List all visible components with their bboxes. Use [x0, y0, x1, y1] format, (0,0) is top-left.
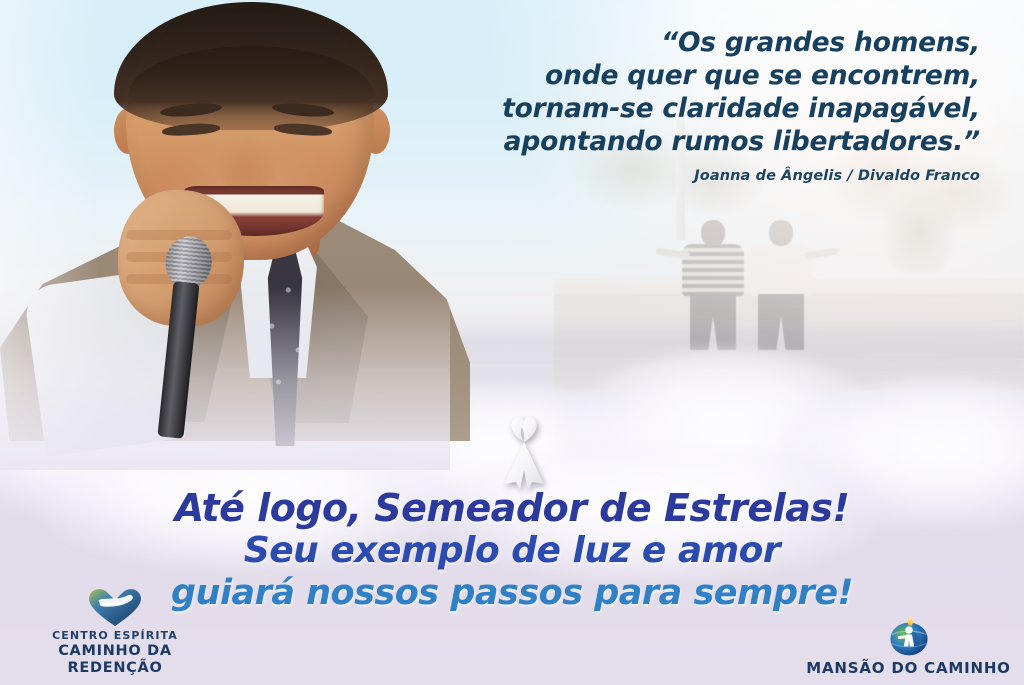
- logo-left-line-2: CAMINHO DA REDENÇÃO: [10, 643, 220, 677]
- poster-canvas: “Os grandes homens, onde quer que se enc…: [0, 0, 1024, 685]
- white-mourning-ribbon-icon: [484, 412, 564, 492]
- logo-left-line-1: CENTRO ESPÍRITA: [10, 629, 220, 643]
- logo-centro-espirita: CENTRO ESPÍRITA CAMINHO DA REDENÇÃO: [10, 589, 220, 677]
- quote-attribution: Joanna de Ângelis / Divaldo Franco: [420, 168, 980, 184]
- microphone-body: [157, 281, 199, 439]
- portrait-divaldo-franco: [10, 0, 440, 430]
- hair: [114, 2, 388, 130]
- headline-line-2: Seu exemplo de luz e amor: [0, 530, 1024, 572]
- nose: [216, 136, 278, 192]
- logo-mansao-do-caminho: MANSÃO DO CAMINHO: [801, 617, 1016, 677]
- globe-figure-flame-logo-icon: [801, 617, 1016, 657]
- headline-line-1: Até logo, Semeador de Estrelas!: [0, 486, 1024, 530]
- logo-right-line-1: MANSÃO DO CAMINHO: [801, 659, 1016, 677]
- quote-line-3: tornam-se claridade inapagável,: [420, 92, 980, 125]
- quote-line-1: “Os grandes homens,: [420, 26, 980, 59]
- heart-hands-logo-icon: [10, 589, 220, 629]
- quote-block: “Os grandes homens, onde quer que se enc…: [420, 26, 980, 184]
- quote-line-4: apontando rumos libertadores.”: [420, 125, 980, 158]
- quote-line-2: onde quer que se encontrem,: [420, 59, 980, 92]
